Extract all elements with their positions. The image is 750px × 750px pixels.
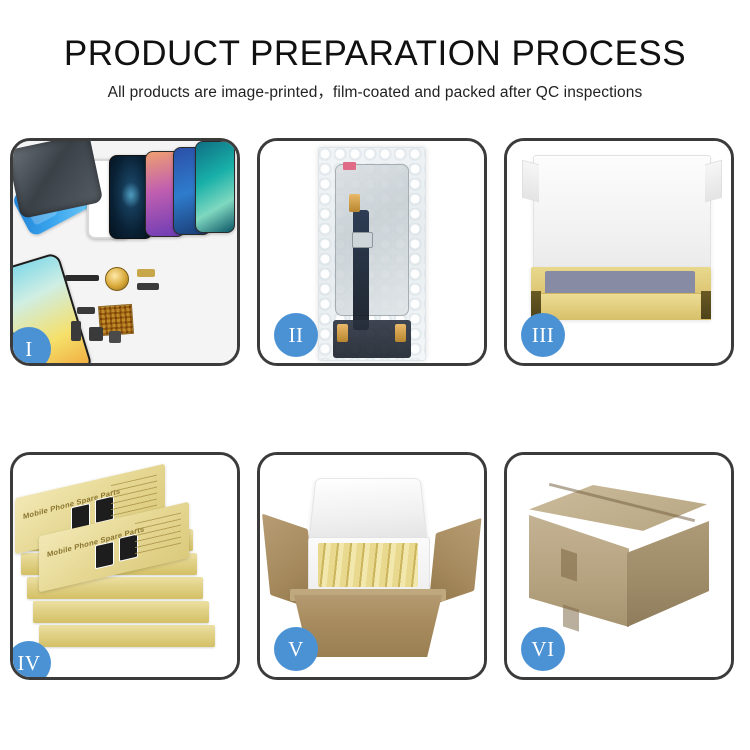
step-badge-2: II (274, 313, 318, 357)
process-step-panel-4[interactable]: Mobile Phone Spare Parts Mobile Phone Sp… (10, 452, 240, 680)
step-2-image: II (260, 141, 484, 363)
carton-tape-lower (563, 604, 579, 631)
flex-cable-photo (353, 210, 369, 330)
foam-lid-photo (308, 478, 428, 544)
driver-ic-photo (352, 232, 373, 248)
packed-yellow-boxes-photo (318, 543, 418, 587)
process-step-panel-1[interactable]: I (10, 138, 240, 366)
phone-parts-scene (13, 141, 237, 363)
teal-phone-photo (195, 141, 235, 233)
gold-contact-right (395, 324, 406, 342)
step-5-image: V (260, 455, 484, 677)
carton-left-face (529, 515, 629, 627)
carton-right-face (627, 521, 709, 627)
page-header: PRODUCT PREPARATION PROCESS All products… (0, 0, 750, 130)
page-title: PRODUCT PREPARATION PROCESS (0, 0, 750, 74)
speaker-part-photo (65, 275, 99, 281)
small-part-a (77, 307, 95, 314)
stacked-box-1 (39, 625, 215, 647)
carton-tape-upper (561, 548, 577, 581)
process-step-grid: I II (10, 138, 740, 738)
step-1-image: I (13, 141, 237, 363)
step-4-image: Mobile Phone Spare Parts Mobile Phone Sp… (13, 455, 237, 677)
gold-contact-top (349, 194, 360, 212)
step-3-image: III (507, 141, 731, 363)
small-part-e (137, 269, 155, 277)
step-badge-6: VI (521, 627, 565, 671)
step-6-image: VI (507, 455, 731, 677)
process-step-panel-3[interactable]: III (504, 138, 734, 366)
step-badge-3: III (521, 313, 565, 357)
small-part-c (89, 327, 103, 341)
kraft-box-front-photo (531, 293, 711, 320)
small-part-d (109, 331, 121, 343)
process-step-panel-2[interactable]: II (257, 138, 487, 366)
gold-contact-left (337, 324, 348, 342)
step-badge-5: V (274, 627, 318, 671)
box-right-corner (701, 291, 711, 319)
stacked-boxes-scene: Mobile Phone Spare Parts Mobile Phone Sp… (13, 455, 237, 677)
lid-text-lines-lower (135, 513, 181, 558)
process-step-panel-6[interactable]: VI (504, 452, 734, 680)
bubble-wrap-bag (318, 147, 426, 361)
page-subtitle: All products are image-printed，film-coat… (0, 74, 750, 103)
stacked-box-2 (33, 601, 209, 623)
small-part-b (71, 321, 81, 341)
wireless-coil-part-photo (105, 267, 129, 291)
lid-phone-image-b1 (95, 541, 114, 569)
small-part-f (137, 283, 159, 290)
process-step-panel-5[interactable]: V (257, 452, 487, 680)
pink-label-photo (343, 162, 356, 170)
